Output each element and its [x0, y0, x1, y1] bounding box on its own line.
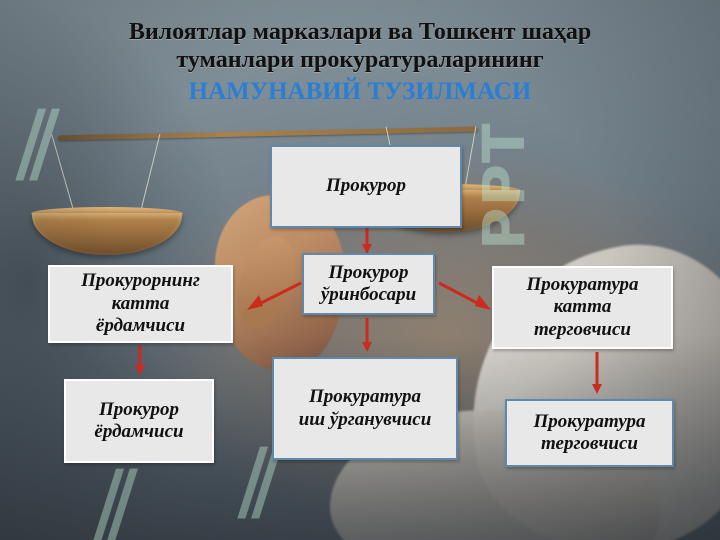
node-katta-yordamchisi-label: Прокурорнинг катта ёрдамчиси — [69, 270, 212, 337]
node-ish-organuvchisi-line-1: Прокуратура — [303, 386, 427, 407]
watermark-text: PPT — [470, 122, 538, 250]
watermark-logo-left: ⫽ — [18, 92, 60, 201]
node-yordamchisi-line-1: Прокурор — [93, 399, 185, 420]
node-prokuror-yordamchisi[interactable]: Прокурор ёрдамчиси — [64, 379, 214, 463]
node-katta-yordamchisi-line-1: Прокурорнинг — [75, 270, 206, 291]
node-prokuror-label: Прокурор — [320, 175, 412, 197]
node-prokuratura-tergovchisi[interactable]: Прокуратура терговчиси — [505, 399, 674, 467]
node-katta-tergovchisi-line-3: терговчиси — [528, 319, 637, 340]
node-prokuratura-katta-tergovchisi[interactable]: Прокуратура катта терговчиси — [492, 266, 673, 349]
node-yordamchisi-line-2: ёрдамчиси — [88, 421, 189, 442]
arrow-orinbosari-to-katta-yordamchisi — [243, 281, 303, 311]
node-katta-yordamchisi-line-3: ёрдамчиси — [90, 315, 191, 336]
node-tergovchisi-line-1: Прокуратура — [527, 411, 651, 432]
node-prokurorning-katta-yordamchisi[interactable]: Прокурорнинг катта ёрдамчиси — [48, 265, 233, 343]
node-tergovchisi-line-2: терговчиси — [535, 433, 644, 454]
node-prokuror[interactable]: Прокурор — [270, 145, 462, 228]
node-katta-tergovchisi-line-1: Прокуратура — [520, 274, 644, 295]
node-tergovchisi-label: Прокуратура терговчиси — [521, 411, 657, 456]
title-block: Вилоятлар марказлари ва Тошкент шаҳар ту… — [0, 18, 720, 107]
node-ish-organuvchisi-label: Прокуратура иш ўрганувчиси — [287, 386, 444, 431]
arrow-katta-tergovchisi-to-tergovchisi — [590, 352, 604, 396]
page-title-line-1: Вилоятлар марказлари ва Тошкент шаҳар — [0, 18, 720, 46]
node-prokuror-orinbosari[interactable]: Прокурор ўринбосари — [302, 253, 435, 315]
node-prokuror-orinbosari-label: Прокурор ўринбосари — [309, 262, 428, 307]
node-katta-tergovchisi-label: Прокуратура катта терговчиси — [514, 274, 650, 341]
page-title-line-2: туманлари прокуратураларининг — [0, 46, 720, 74]
node-prokuratura-ish-organuvchisi[interactable]: Прокуратура иш ўрганувчиси — [272, 357, 458, 460]
slide-canvas: ⫽ ⫽ PPT ⫽ Вилоятлар марказлари ва Тошкен… — [0, 0, 720, 540]
page-title-accent: НАМУНАВИЙ ТУЗИЛМАСИ — [0, 77, 720, 107]
node-orinbosari-line-1: Прокурор — [322, 262, 414, 283]
arrow-orinbosari-to-ish-organuvchisi — [360, 318, 374, 354]
node-yordamchisi-label: Прокурор ёрдамчиси — [82, 399, 195, 444]
arrow-prokuror-to-orinbosari — [360, 228, 374, 256]
node-ish-organuvchisi-line-2: иш ўрганувчиси — [293, 409, 438, 430]
arrow-orinbosari-to-katta-tergovchisi — [437, 281, 495, 311]
node-katta-tergovchisi-line-2: катта — [548, 296, 618, 317]
node-katta-yordamchisi-line-2: катта — [106, 293, 176, 314]
watermark-logo-bottom-left: ⫽ — [96, 452, 138, 540]
node-orinbosari-line-2: ўринбосари — [315, 284, 422, 305]
arrow-katta-yordamchisi-to-yordamchisi — [133, 345, 147, 377]
